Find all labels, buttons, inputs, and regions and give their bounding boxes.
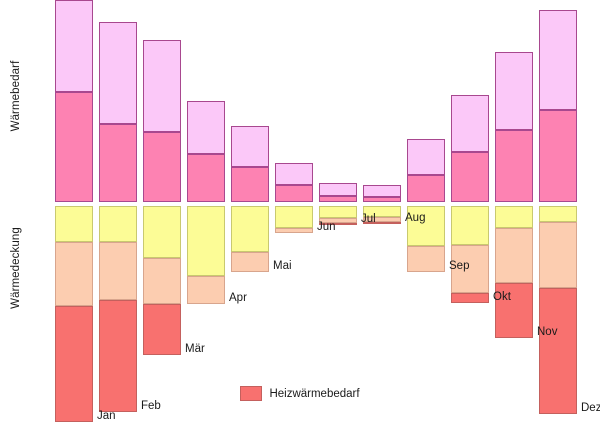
bar-segment	[187, 276, 225, 304]
bar-demand[interactable]	[363, 185, 401, 202]
bar-coverage[interactable]	[187, 206, 225, 304]
bar-demand[interactable]	[275, 163, 313, 202]
category-label: Okt	[493, 291, 511, 303]
y-axis-title-coverage: Wärmedeckung	[10, 218, 22, 318]
bar-segment	[539, 10, 577, 110]
bar-segment	[187, 154, 225, 202]
category-label: Jul	[361, 213, 376, 225]
chart-canvas: Wärmebedarf Wärmedeckung JanFebMärAprMai…	[0, 0, 600, 400]
bar-segment	[187, 206, 225, 276]
bar-segment	[143, 304, 181, 355]
category-label: Nov	[537, 326, 557, 338]
bar-demand[interactable]	[451, 95, 489, 202]
bar-segment	[99, 124, 137, 202]
bar-segment	[231, 167, 269, 202]
category-label: Mär	[185, 343, 205, 355]
bar-segment	[451, 293, 489, 303]
bar-segment	[363, 185, 401, 197]
bar-segment	[495, 206, 533, 228]
bar-segment	[143, 206, 181, 258]
category-label: Jun	[317, 221, 336, 233]
bar-demand[interactable]	[407, 139, 445, 202]
category-label: Sep	[449, 260, 469, 272]
bar-coverage[interactable]	[275, 206, 313, 233]
bar-demand[interactable]	[187, 101, 225, 202]
bar-coverage[interactable]	[143, 206, 181, 355]
bar-segment	[99, 242, 137, 300]
chart-legend: Heizwärmebedarf	[0, 386, 600, 401]
bar-segment	[231, 252, 269, 272]
bar-segment	[55, 206, 93, 242]
category-label: Dez	[581, 402, 600, 414]
category-label: Feb	[141, 400, 161, 412]
bar-segment	[187, 101, 225, 154]
bar-coverage[interactable]	[539, 206, 577, 414]
bar-segment	[407, 246, 445, 272]
category-label: Jan	[97, 410, 116, 422]
bar-segment	[319, 183, 357, 196]
bar-segment	[451, 206, 489, 245]
bar-segment	[275, 206, 313, 228]
bar-segment	[143, 40, 181, 132]
bar-demand[interactable]	[495, 52, 533, 202]
bar-demand[interactable]	[539, 10, 577, 202]
bar-segment	[539, 222, 577, 288]
bar-segment	[539, 110, 577, 202]
y-axis-title-demand: Wärmebedarf	[10, 46, 22, 146]
bar-segment	[451, 95, 489, 152]
bar-segment	[407, 139, 445, 175]
bar-coverage[interactable]	[495, 206, 533, 338]
bar-segment	[407, 175, 445, 202]
bar-segment	[231, 206, 269, 252]
bar-coverage[interactable]	[99, 206, 137, 412]
bar-segment	[99, 206, 137, 242]
bar-segment	[143, 132, 181, 202]
bar-segment	[55, 92, 93, 202]
bar-segment	[55, 242, 93, 306]
bar-segment	[495, 52, 533, 130]
bar-segment	[55, 0, 93, 92]
bar-segment	[231, 126, 269, 167]
bar-segment	[275, 185, 313, 202]
bar-segment	[319, 196, 357, 202]
bar-coverage[interactable]	[451, 206, 489, 303]
bar-segment	[495, 130, 533, 202]
bar-coverage[interactable]	[231, 206, 269, 272]
bar-segment	[539, 206, 577, 222]
bar-segment	[143, 258, 181, 304]
legend-swatch-heizwaermebedarf	[240, 386, 262, 401]
bar-segment	[451, 152, 489, 202]
bar-segment	[99, 22, 137, 124]
bar-demand[interactable]	[231, 126, 269, 202]
bar-segment	[275, 228, 313, 233]
bar-demand[interactable]	[99, 22, 137, 202]
bar-demand[interactable]	[319, 183, 357, 202]
bar-segment	[495, 228, 533, 283]
bar-demand[interactable]	[143, 40, 181, 202]
bar-segment	[55, 306, 93, 422]
bar-segment	[275, 163, 313, 185]
bar-segment	[363, 197, 401, 202]
legend-label-heizwaermebedarf: Heizwärmebedarf	[269, 388, 359, 400]
category-label: Aug	[405, 212, 425, 224]
bar-demand[interactable]	[55, 0, 93, 202]
category-label: Apr	[229, 292, 247, 304]
category-label: Mai	[273, 260, 292, 272]
bar-segment	[319, 206, 357, 218]
